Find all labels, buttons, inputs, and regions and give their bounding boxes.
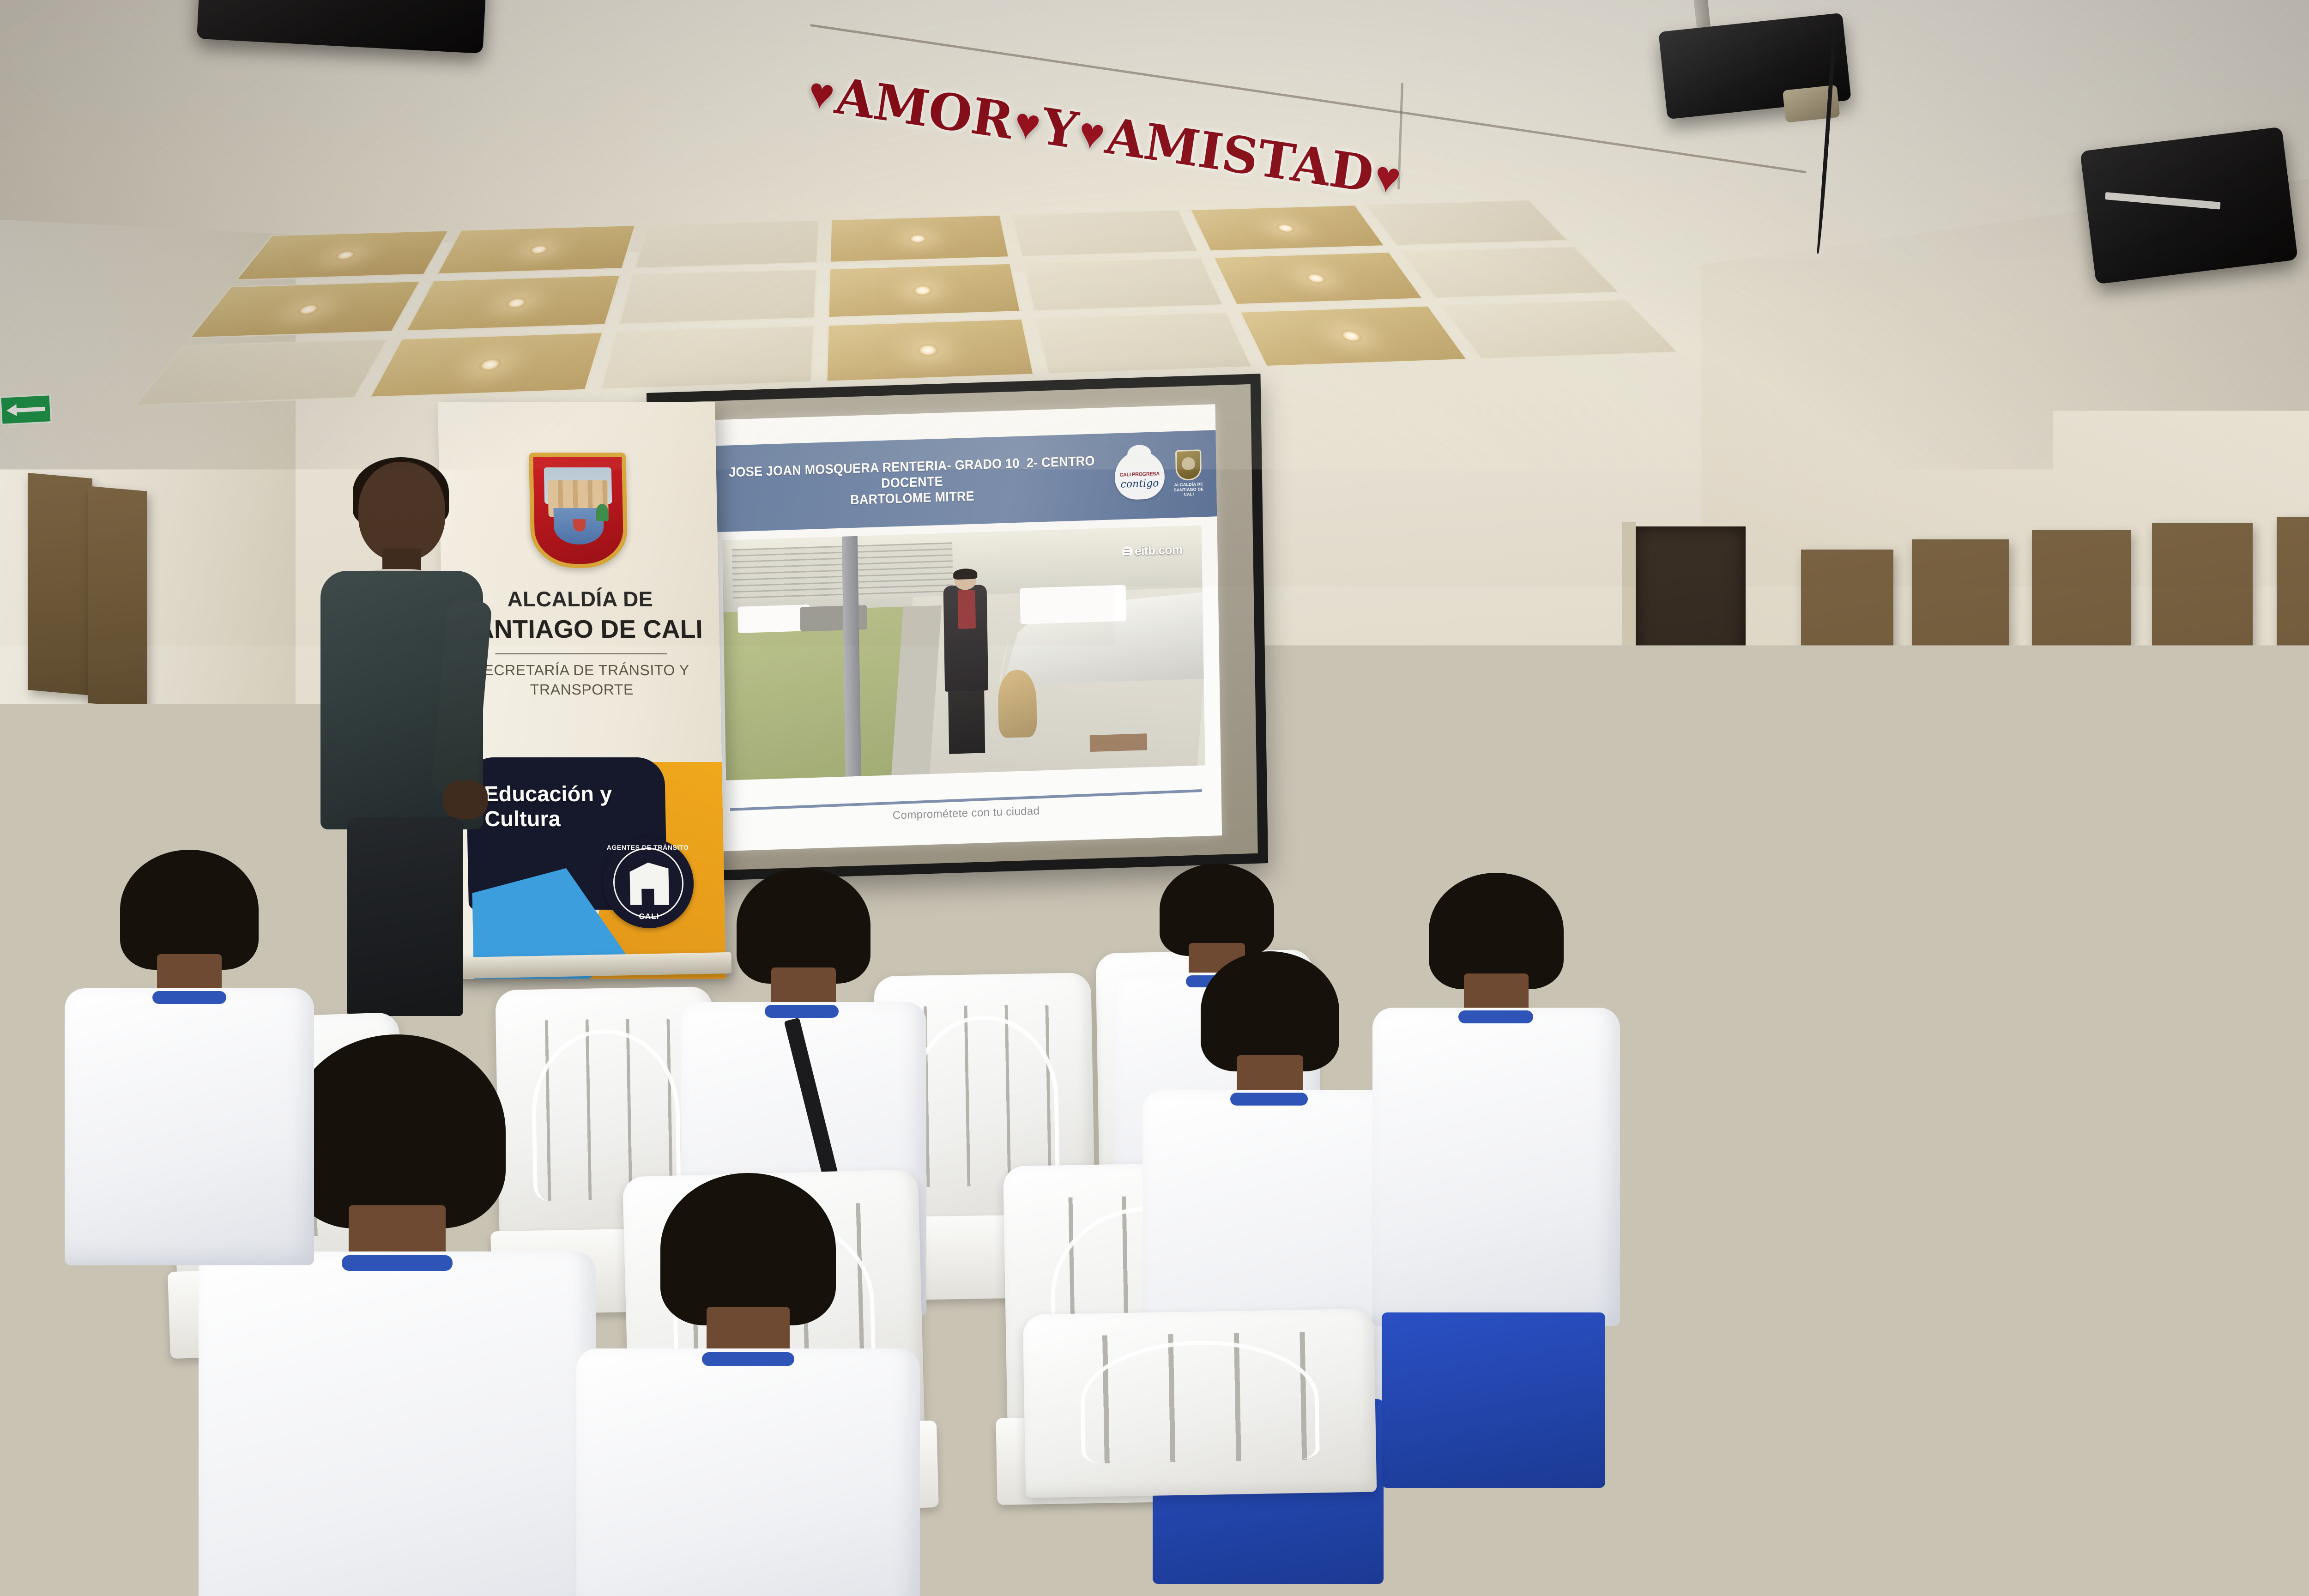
slide-footer-text: Comprométete con tu ciudad bbox=[730, 799, 1202, 827]
badge-top-text: AGENTES DE TRÁNSITO bbox=[605, 844, 690, 851]
ceiling-panel bbox=[598, 325, 815, 390]
student-seated bbox=[1930, 804, 2115, 1219]
student-sleeve-trim bbox=[1700, 1053, 1751, 1067]
ceiling-panel bbox=[1011, 210, 1199, 257]
ceiling-panel bbox=[617, 269, 818, 325]
ceiling-panel bbox=[369, 332, 604, 398]
ceiling-panel bbox=[1022, 257, 1225, 312]
student-shirt bbox=[1935, 904, 2110, 1121]
banner-lower-line2: Cultura bbox=[484, 806, 613, 831]
garland-word-amistad: AMISTAD bbox=[1102, 111, 1378, 200]
emergency-exit-arrow-icon bbox=[6, 404, 17, 417]
downlight-icon bbox=[504, 297, 529, 309]
student-collar-trim bbox=[2207, 927, 2262, 938]
student-collar-trim bbox=[342, 1255, 453, 1271]
student-collar-trim bbox=[152, 991, 226, 1004]
photo-watermark-text: eitb.com bbox=[1135, 543, 1183, 558]
student-collar-trim bbox=[1995, 906, 2050, 917]
photo-dog bbox=[997, 670, 1037, 738]
officer-shoulder-badge-icon bbox=[1662, 775, 1680, 792]
slide-photo-area: eitb.com bbox=[707, 516, 1221, 783]
acoustic-wall-panel bbox=[88, 486, 147, 708]
student-shirt bbox=[0, 1321, 139, 1496]
student-hair bbox=[1160, 864, 1274, 956]
ceiling-panel bbox=[828, 215, 1010, 263]
banner-lower-line1: Educación y bbox=[484, 781, 612, 806]
contigo-logo-line2: contigo bbox=[1115, 478, 1165, 490]
student-collar-trim bbox=[702, 1352, 794, 1366]
chair-leg bbox=[1626, 953, 1635, 1022]
student-seated bbox=[60, 850, 319, 1265]
crest-palm bbox=[596, 504, 609, 521]
downlight-icon bbox=[528, 245, 550, 255]
chair-back bbox=[1560, 1271, 1933, 1478]
chair-back bbox=[1022, 1308, 1377, 1498]
garland-word-y: Y bbox=[1037, 102, 1082, 157]
garland-word-amor: AMOR bbox=[831, 71, 1017, 147]
student-foreground bbox=[573, 1173, 924, 1596]
student-shirt bbox=[199, 1251, 596, 1596]
id-badge bbox=[1765, 954, 1784, 978]
downlight-icon bbox=[1304, 273, 1328, 284]
downlight-icon bbox=[913, 285, 932, 296]
chair-back bbox=[2187, 1040, 2309, 1305]
presentation-slide: JOSE JOAN MOSQUERA RENTERIA- GRADO 10_2-… bbox=[705, 404, 1222, 852]
student-jeans bbox=[1672, 1099, 1866, 1238]
presenter-hand bbox=[443, 780, 488, 819]
banner-lower-text: Educación y Cultura bbox=[484, 781, 613, 831]
student-hair bbox=[120, 850, 259, 970]
downlight-icon bbox=[1274, 224, 1297, 233]
downlight-icon bbox=[908, 234, 927, 244]
slide-title: JOSE JOAN MOSQUERA RENTERIA- GRADO 10_2-… bbox=[727, 453, 1096, 512]
downlight-icon bbox=[295, 304, 322, 315]
student-foreground bbox=[0, 1321, 139, 1596]
screen-surface: JOSE JOAN MOSQUERA RENTERIA- GRADO 10_2-… bbox=[657, 384, 1257, 872]
photo-white-car bbox=[737, 605, 810, 633]
eitb-mark-icon bbox=[1122, 546, 1132, 557]
student-hair bbox=[1732, 730, 1866, 845]
emergency-exit-sign bbox=[0, 393, 53, 426]
chair-row3[interactable] bbox=[2182, 1040, 2309, 1463]
downlight-icon bbox=[1337, 330, 1364, 342]
photo-watermark: eitb.com bbox=[1122, 543, 1183, 559]
student-collar-trim bbox=[1458, 1010, 1533, 1023]
ceiling-panel bbox=[634, 220, 820, 269]
student-collar-trim bbox=[1230, 1093, 1308, 1106]
ceiling-panel bbox=[436, 225, 636, 274]
student-shirt bbox=[65, 988, 314, 1265]
ceiling-panel bbox=[1239, 305, 1469, 367]
student-hair bbox=[289, 1034, 506, 1228]
student-shirt bbox=[576, 1348, 920, 1596]
downlight-icon bbox=[333, 250, 358, 260]
banner-rule bbox=[495, 653, 667, 654]
wall-speaker-icon bbox=[2080, 127, 2298, 284]
chair-seat bbox=[2176, 1281, 2309, 1372]
student-sleeve-trim bbox=[1939, 1062, 1981, 1074]
crest-shield-shape bbox=[1175, 449, 1202, 481]
crest-caption: ALCALDÍA DE SANTIAGO DE CALI bbox=[1169, 482, 1208, 497]
ceiling-panel bbox=[827, 263, 1022, 318]
chair-foreground[interactable] bbox=[1022, 1308, 1378, 1596]
exit-sign-bar bbox=[17, 406, 45, 412]
slide-photo-man-walking-dog: eitb.com bbox=[722, 525, 1205, 780]
officer-epaulet bbox=[1657, 737, 1692, 751]
slide-header: JOSE JOAN MOSQUERA RENTERIA- GRADO 10_2-… bbox=[705, 430, 1217, 532]
presenter-head bbox=[358, 462, 445, 561]
chair-foreground[interactable] bbox=[1558, 1271, 1933, 1596]
downlight-icon bbox=[477, 358, 504, 371]
ceiling-panel bbox=[1212, 252, 1424, 305]
photo-man-hair bbox=[953, 568, 977, 580]
acoustic-wall-panel bbox=[28, 473, 92, 695]
student-pants bbox=[1940, 1108, 2093, 1215]
projection-screen: JOSE JOAN MOSQUERA RENTERIA- GRADO 10_2-… bbox=[647, 374, 1268, 883]
photo-white-van bbox=[1020, 585, 1126, 624]
auditorium-photo: ♥ AMOR ♥ Y ♥ AMISTAD ♥ JOSE JOAN MOSQUER… bbox=[0, 0, 2309, 1596]
student-hair bbox=[1429, 873, 1564, 989]
student-hair bbox=[1201, 951, 1339, 1071]
heart-icon: ♥ bbox=[1372, 154, 1403, 200]
presenter-legs bbox=[347, 817, 463, 1016]
presenter-standing bbox=[305, 462, 499, 1007]
downlight-icon bbox=[917, 344, 939, 357]
cali-coat-of-arms-icon bbox=[529, 453, 628, 568]
ceiling-panel bbox=[1034, 312, 1254, 375]
photo-stamp bbox=[1089, 733, 1147, 752]
officer-head bbox=[1690, 651, 1765, 737]
student-collar-trim bbox=[765, 1005, 839, 1018]
alcaldia-crest-logo-icon: ALCALDÍA DE SANTIAGO DE CALI bbox=[1169, 449, 1209, 499]
speaker-strip bbox=[2105, 192, 2220, 210]
crest-line2: SANTIAGO DE CALI bbox=[1169, 486, 1208, 497]
ceiling-projector-icon bbox=[1658, 13, 1851, 120]
ceiling-panel bbox=[825, 318, 1035, 382]
photo-man-scarf bbox=[958, 590, 976, 629]
ceiling-panel bbox=[405, 275, 622, 332]
cali-progresa-contigo-logo-icon: CALI PROGRESA contigo bbox=[1114, 451, 1165, 500]
student-seated-with-strap bbox=[1690, 730, 1907, 1238]
student-hair bbox=[737, 868, 870, 984]
student-hair bbox=[660, 1173, 836, 1325]
student-pants bbox=[0, 1473, 125, 1596]
